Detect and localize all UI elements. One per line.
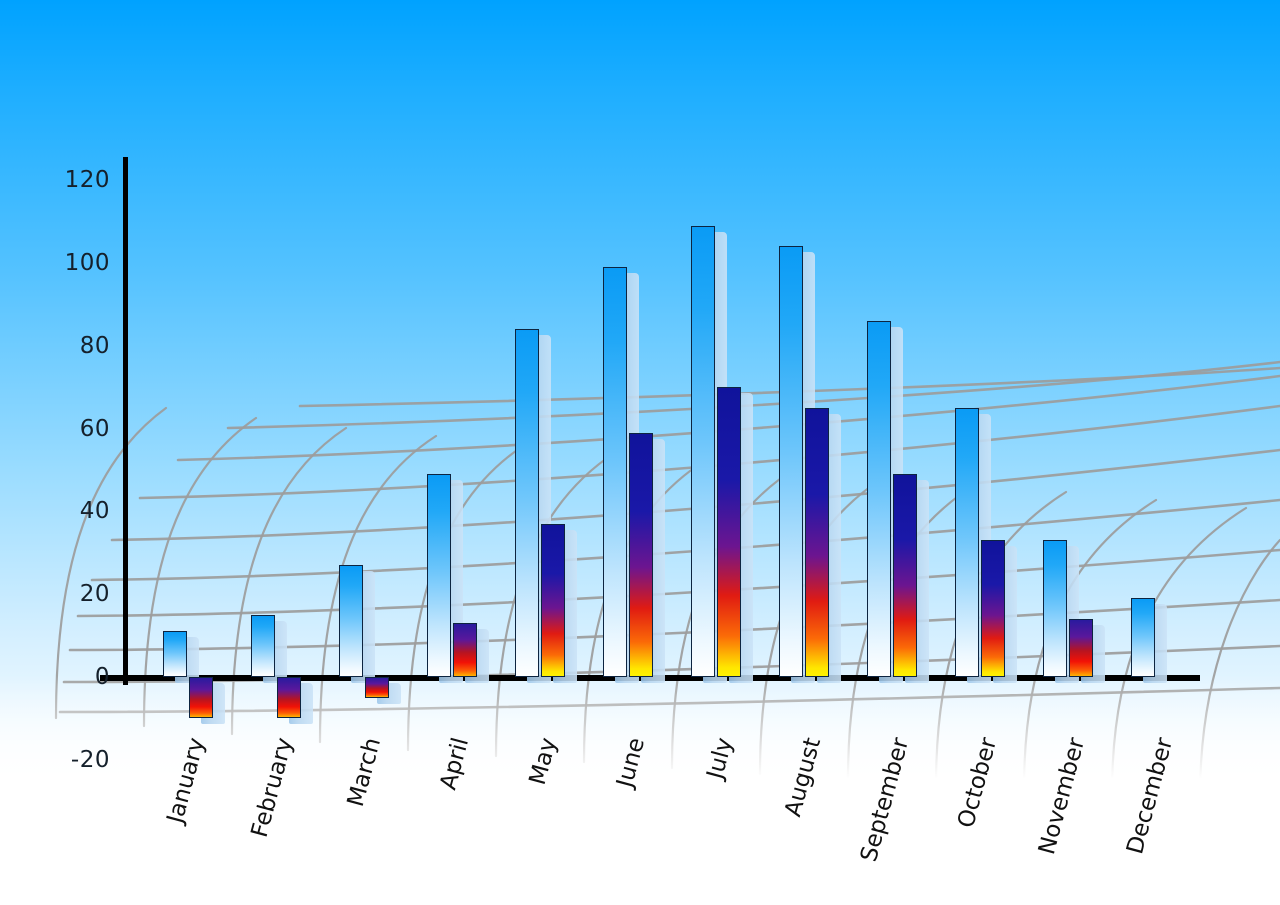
bar-fire[interactable]	[981, 540, 1005, 677]
bar-face	[251, 615, 275, 677]
bar-blue[interactable]	[779, 246, 803, 677]
bar-face	[365, 677, 389, 698]
y-tick-label: 0	[95, 664, 110, 690]
bar-blue[interactable]	[867, 321, 891, 677]
bar-fire[interactable]	[541, 524, 565, 677]
bar-face	[515, 329, 539, 677]
y-tick-label: 120	[65, 167, 110, 193]
bar-face	[691, 226, 715, 677]
bar-fire[interactable]	[365, 677, 389, 698]
bar-fire[interactable]	[453, 623, 477, 677]
bar-face	[779, 246, 803, 677]
grid-curved-lines	[56, 408, 1280, 798]
bar-face	[541, 524, 565, 677]
bar-face	[717, 387, 741, 677]
bar-fire[interactable]	[189, 677, 213, 718]
bar-face	[277, 677, 301, 718]
y-tick-label: 40	[80, 498, 110, 524]
bar-face	[339, 565, 363, 677]
bar-blue[interactable]	[339, 565, 363, 677]
bar-blue[interactable]	[691, 226, 715, 677]
bar-face	[893, 474, 917, 677]
bar-face	[1131, 598, 1155, 677]
bar-fire[interactable]	[893, 474, 917, 677]
y-tick-label: 100	[65, 250, 110, 276]
bar-face	[805, 408, 829, 677]
bar-fire[interactable]	[277, 677, 301, 718]
bar-blue[interactable]	[163, 631, 187, 677]
y-tick-label: 20	[80, 581, 110, 607]
bar-fire[interactable]	[1069, 619, 1093, 677]
y-tick-label: -20	[71, 747, 110, 773]
bar-face	[189, 677, 213, 718]
bar-face	[1043, 540, 1067, 677]
chart-canvas: 120100806040200-20 JanuaryFebruaryMarchA…	[0, 0, 1280, 905]
bar-blue[interactable]	[515, 329, 539, 677]
bar-blue[interactable]	[427, 474, 451, 677]
bar-face	[453, 623, 477, 677]
bar-blue[interactable]	[251, 615, 275, 677]
y-tick-label: 60	[80, 416, 110, 442]
bar-face	[981, 540, 1005, 677]
bar-blue[interactable]	[603, 267, 627, 677]
bar-face	[1069, 619, 1093, 677]
bar-face	[955, 408, 979, 677]
bar-blue[interactable]	[1131, 598, 1155, 677]
bar-fire[interactable]	[629, 433, 653, 677]
y-tick-label: 80	[80, 333, 110, 359]
bar-face	[867, 321, 891, 677]
bar-fire[interactable]	[717, 387, 741, 677]
bar-blue[interactable]	[955, 408, 979, 677]
y-axis-line	[123, 157, 128, 685]
bar-face	[629, 433, 653, 677]
bar-face	[163, 631, 187, 677]
bar-face	[427, 474, 451, 677]
bar-blue[interactable]	[1043, 540, 1067, 677]
bar-face	[603, 267, 627, 677]
bar-fire[interactable]	[805, 408, 829, 677]
